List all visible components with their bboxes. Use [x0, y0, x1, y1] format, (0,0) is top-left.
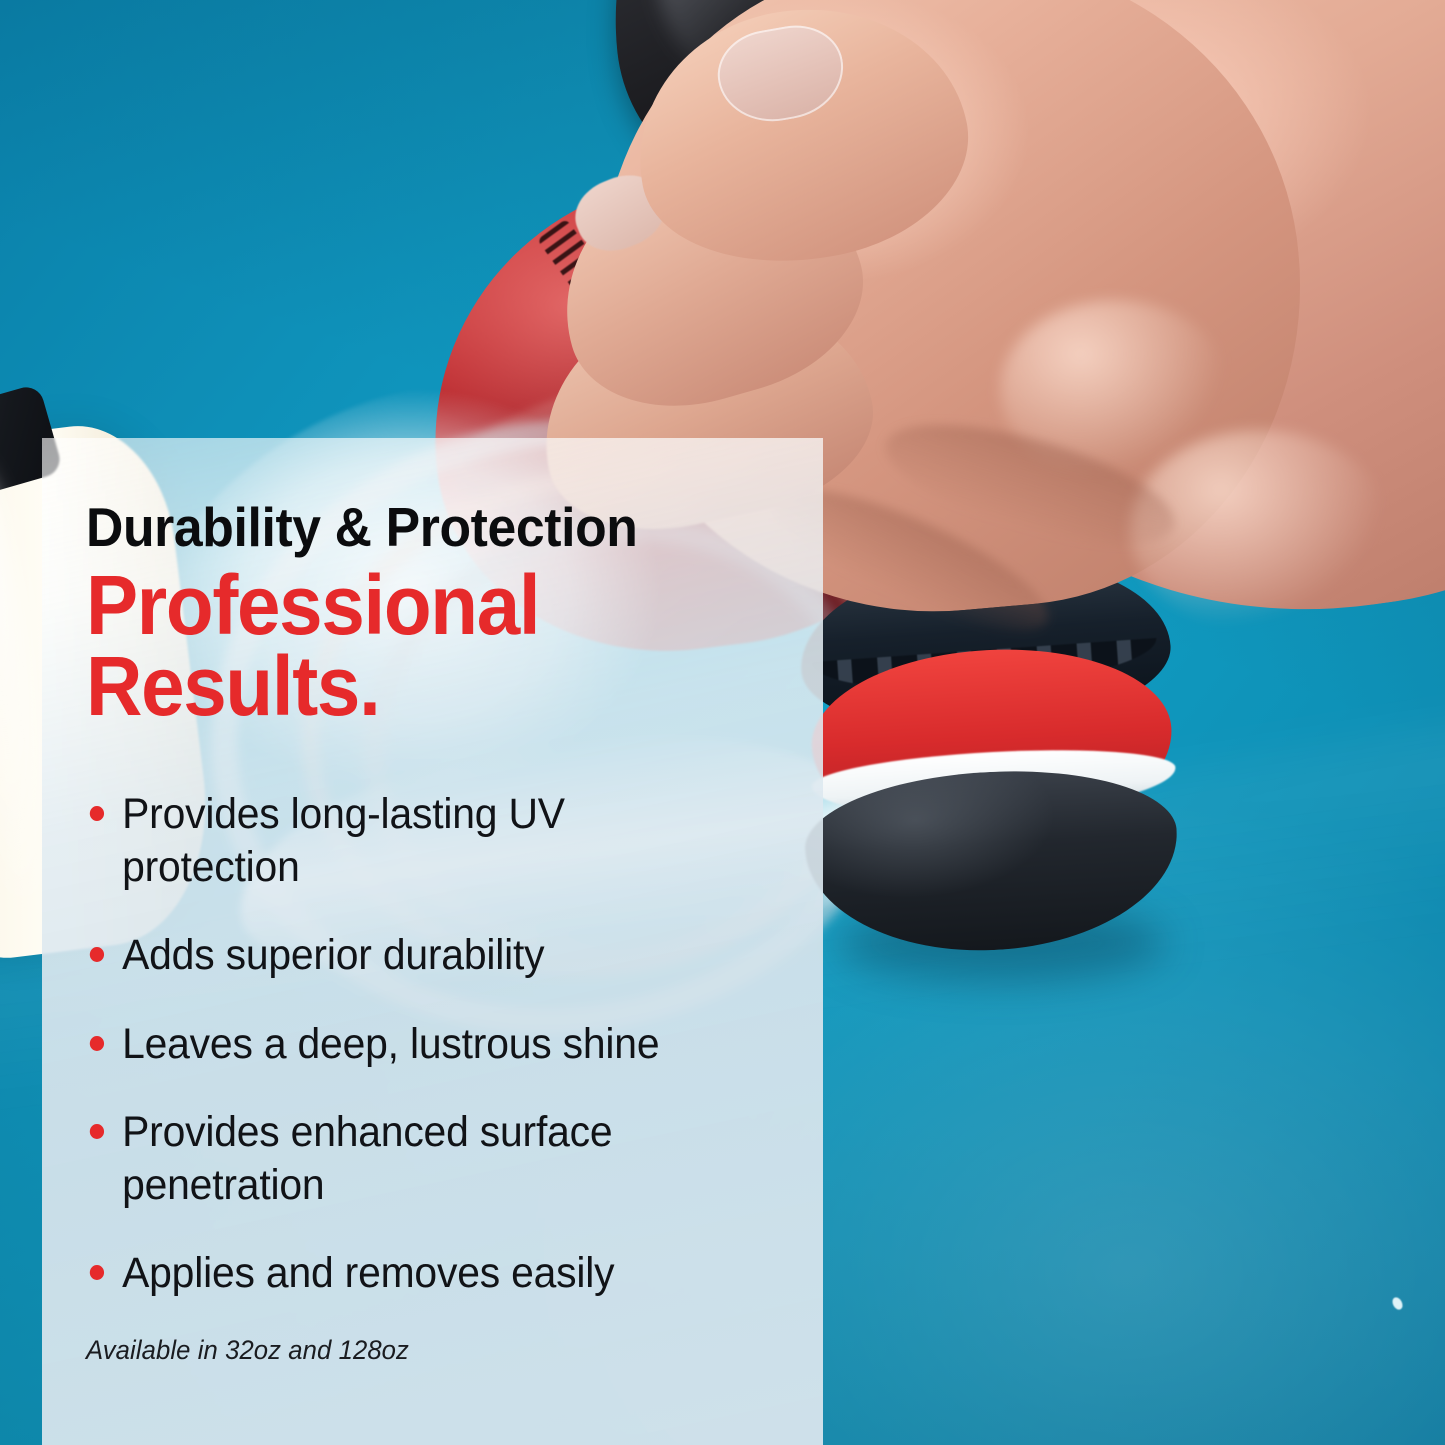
eyebrow-heading: Durability & Protection — [86, 500, 726, 555]
list-item: Provides long-lasting UV protection — [86, 788, 711, 893]
list-item: Provides enhanced surface penetration — [86, 1106, 711, 1211]
page-title: Professional Results. — [86, 565, 719, 726]
headline-line-1: Professional — [86, 565, 719, 646]
headline-line-2: Results. — [86, 646, 719, 727]
list-item: Adds superior durability — [86, 929, 711, 981]
feature-overlay-panel: Durability & Protection Professional Res… — [42, 438, 823, 1445]
availability-footnote: Available in 32oz and 128oz — [86, 1335, 733, 1366]
list-item: Leaves a deep, lustrous shine — [86, 1018, 711, 1070]
product-feature-image: Durability & Protection Professional Res… — [0, 0, 1445, 1445]
list-item: Applies and removes easily — [86, 1247, 711, 1299]
feature-list: Provides long-lasting UV protection Adds… — [86, 788, 767, 1299]
